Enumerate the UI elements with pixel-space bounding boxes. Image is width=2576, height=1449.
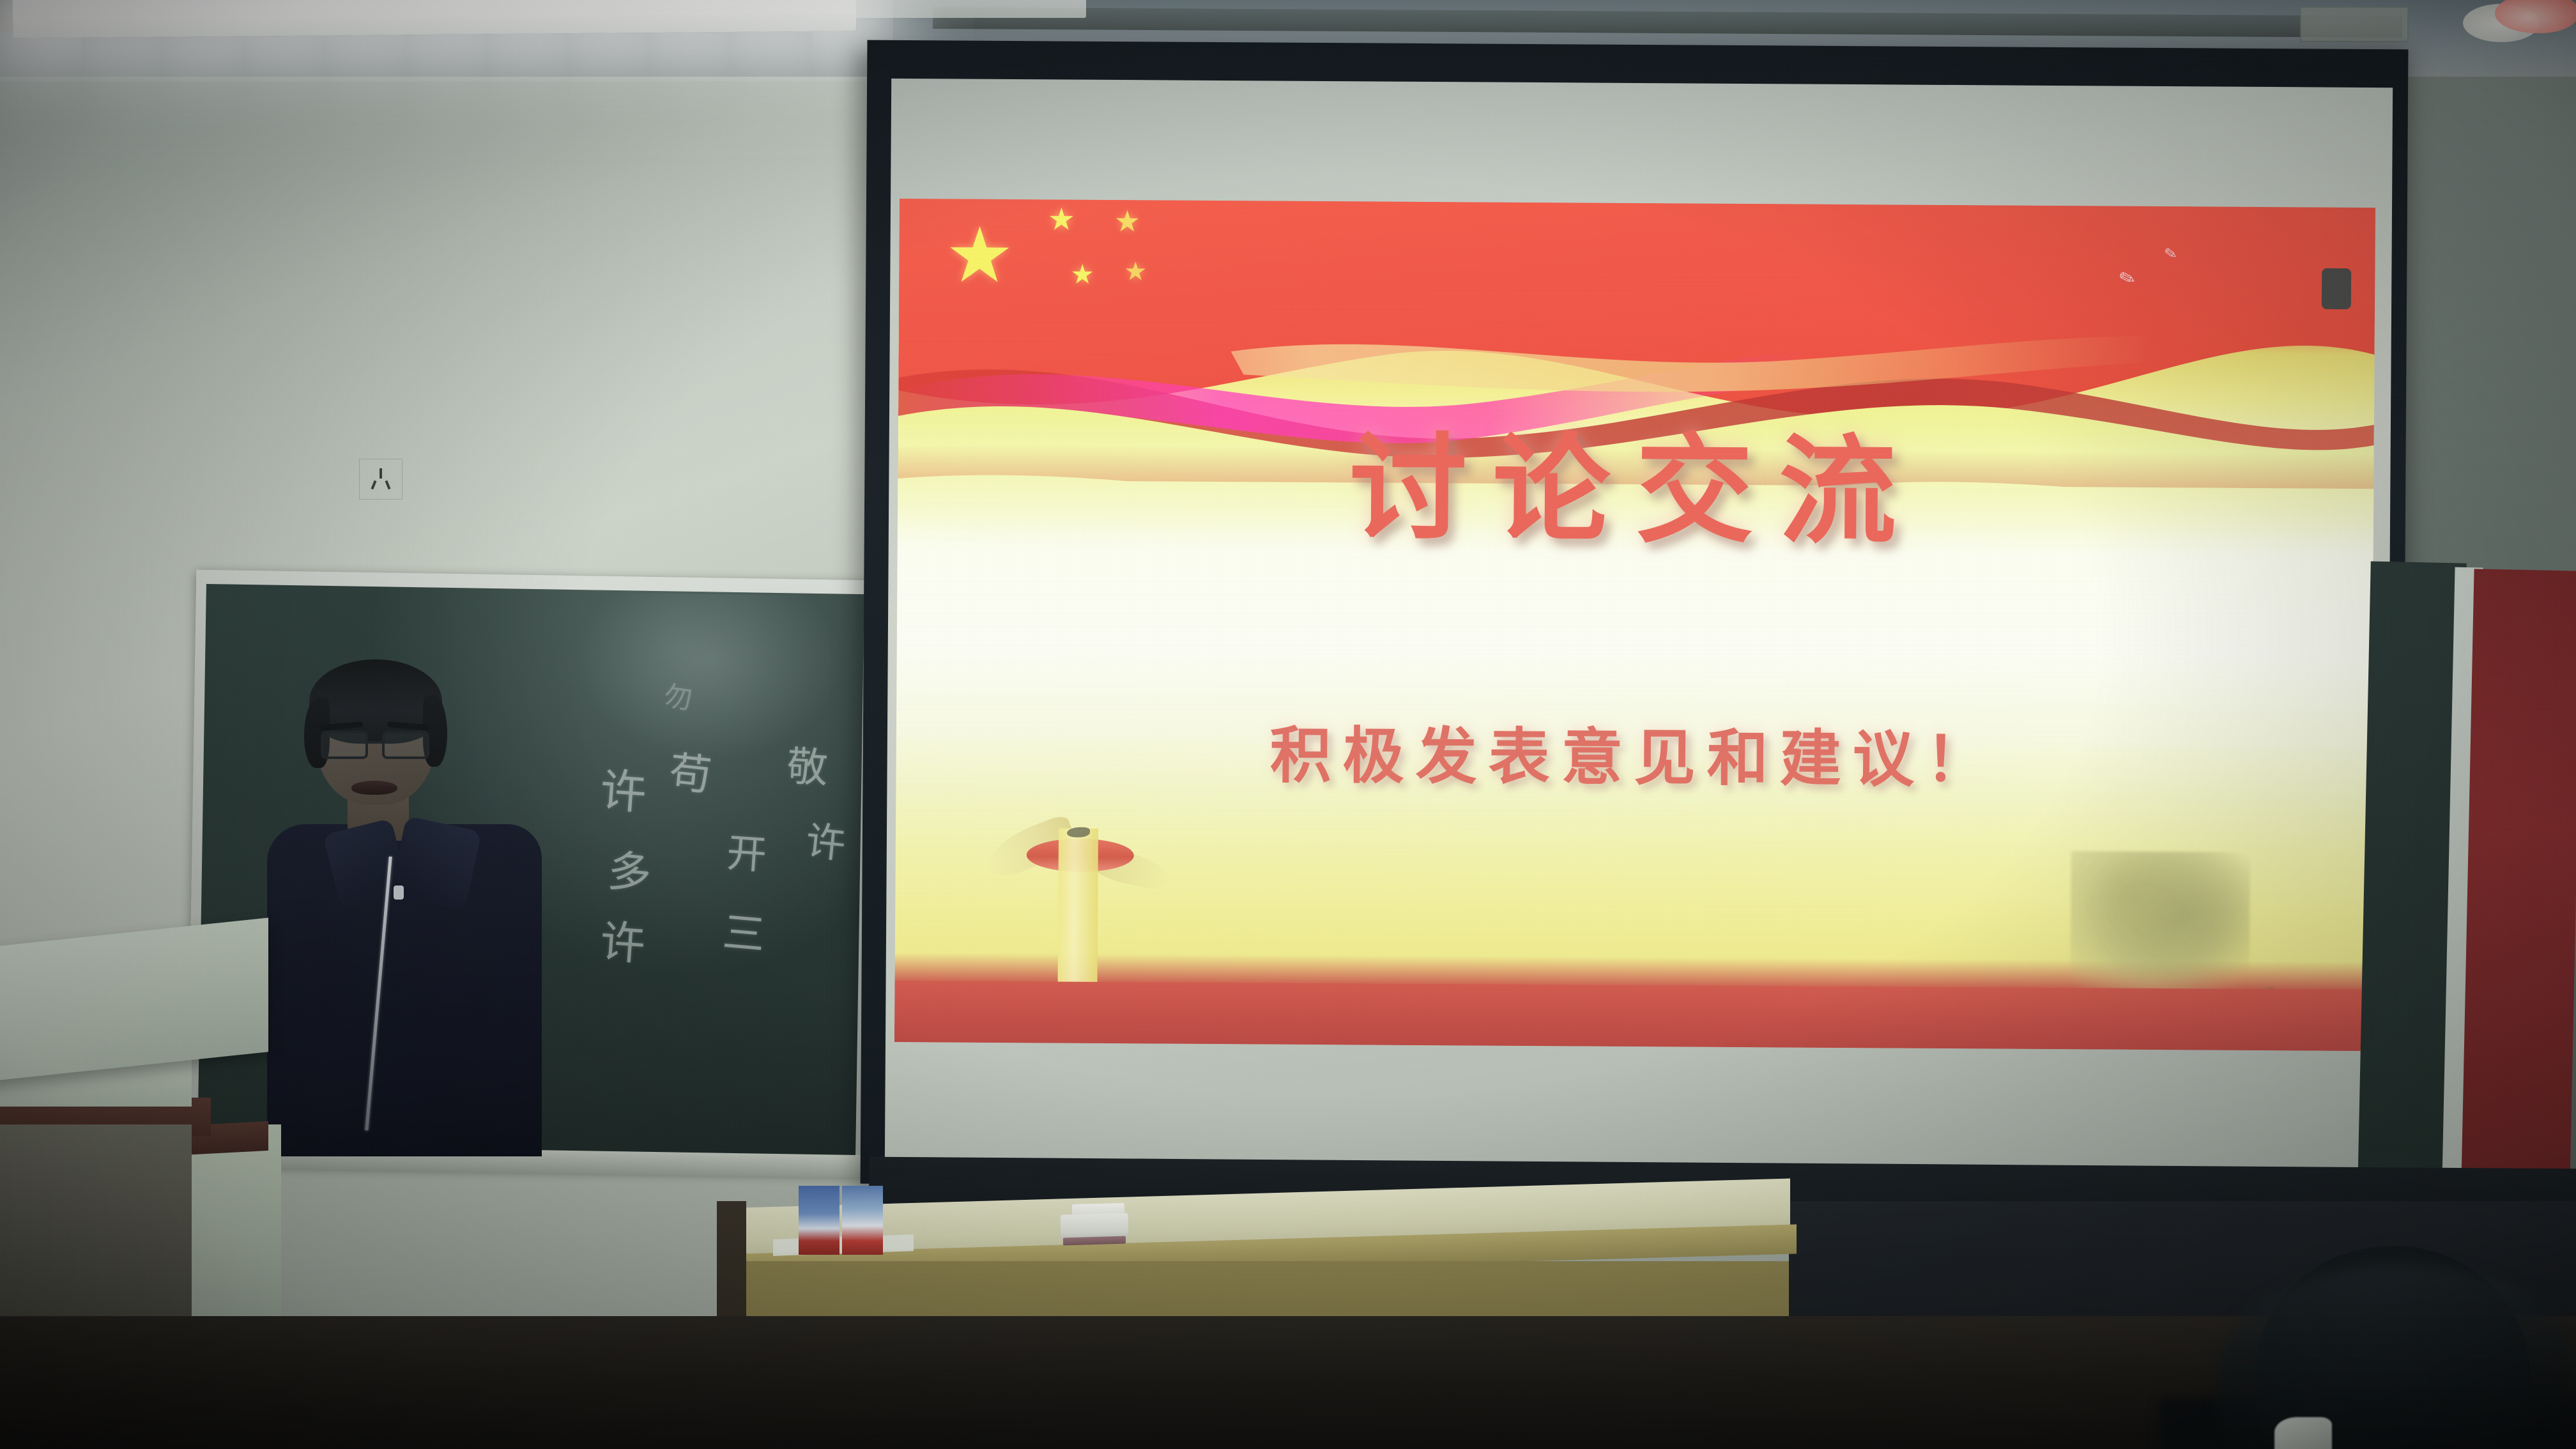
chalk-box	[799, 1186, 839, 1255]
glasses-bridge	[368, 741, 383, 744]
projected-slide: ★ ★ ★ ★ ★ ✎ ✎ 讨论交流 积极发表意见和建议！	[894, 199, 2375, 1051]
glasses-lens-left	[321, 731, 368, 759]
chalk-char: 苟	[666, 738, 715, 803]
photo-canvas: 许 苟 敬 多 开 许 许 三 勿 ★ ★ ★ ★ ★ ✎ ✎ 讨论交流 积极发…	[0, 0, 2576, 1449]
socket-pin-left	[371, 480, 377, 489]
jacket-zipper-pull	[394, 885, 404, 900]
socket-pin-right	[385, 480, 391, 489]
slide-subtitle: 积极发表意见和建议！	[896, 703, 2372, 801]
wall-power-socket	[359, 459, 402, 500]
ceiling-panel	[2300, 6, 2409, 42]
screen-edge-notch	[2322, 268, 2351, 309]
red-wall-banner	[2460, 569, 2576, 1216]
flag-star-small: ★	[1048, 204, 1075, 235]
slide-title: 讨论交流	[898, 390, 2375, 569]
chalk-char: 许	[598, 753, 648, 823]
slide-bottom-bar	[894, 981, 2371, 1051]
chalk-char: 多	[606, 835, 654, 902]
chalk-char: 三	[721, 898, 768, 962]
glasses-lens-right	[382, 731, 429, 759]
chalk-char: 敬	[786, 733, 830, 794]
flower-cluster	[2070, 851, 2250, 999]
dove-icon: ✎	[2163, 244, 2179, 264]
socket-pin-top	[379, 468, 382, 479]
flag-star-large: ★	[945, 217, 1014, 294]
huabiao-bird	[1067, 827, 1090, 838]
flag-star-small: ★	[1070, 261, 1094, 288]
glasses-icon	[321, 731, 433, 762]
presenter-mouth	[351, 781, 397, 795]
chalk-char: 许	[599, 906, 648, 974]
flag-star-small: ★	[1124, 259, 1147, 284]
flag-star-small: ★	[1114, 206, 1141, 236]
chalk-box	[842, 1186, 883, 1255]
chalk-char: 勿	[662, 673, 695, 717]
presenter	[281, 664, 524, 1150]
chalk-char: 许	[803, 808, 848, 870]
chalk-char: 开	[725, 820, 769, 880]
audience-collar	[2274, 1417, 2332, 1449]
